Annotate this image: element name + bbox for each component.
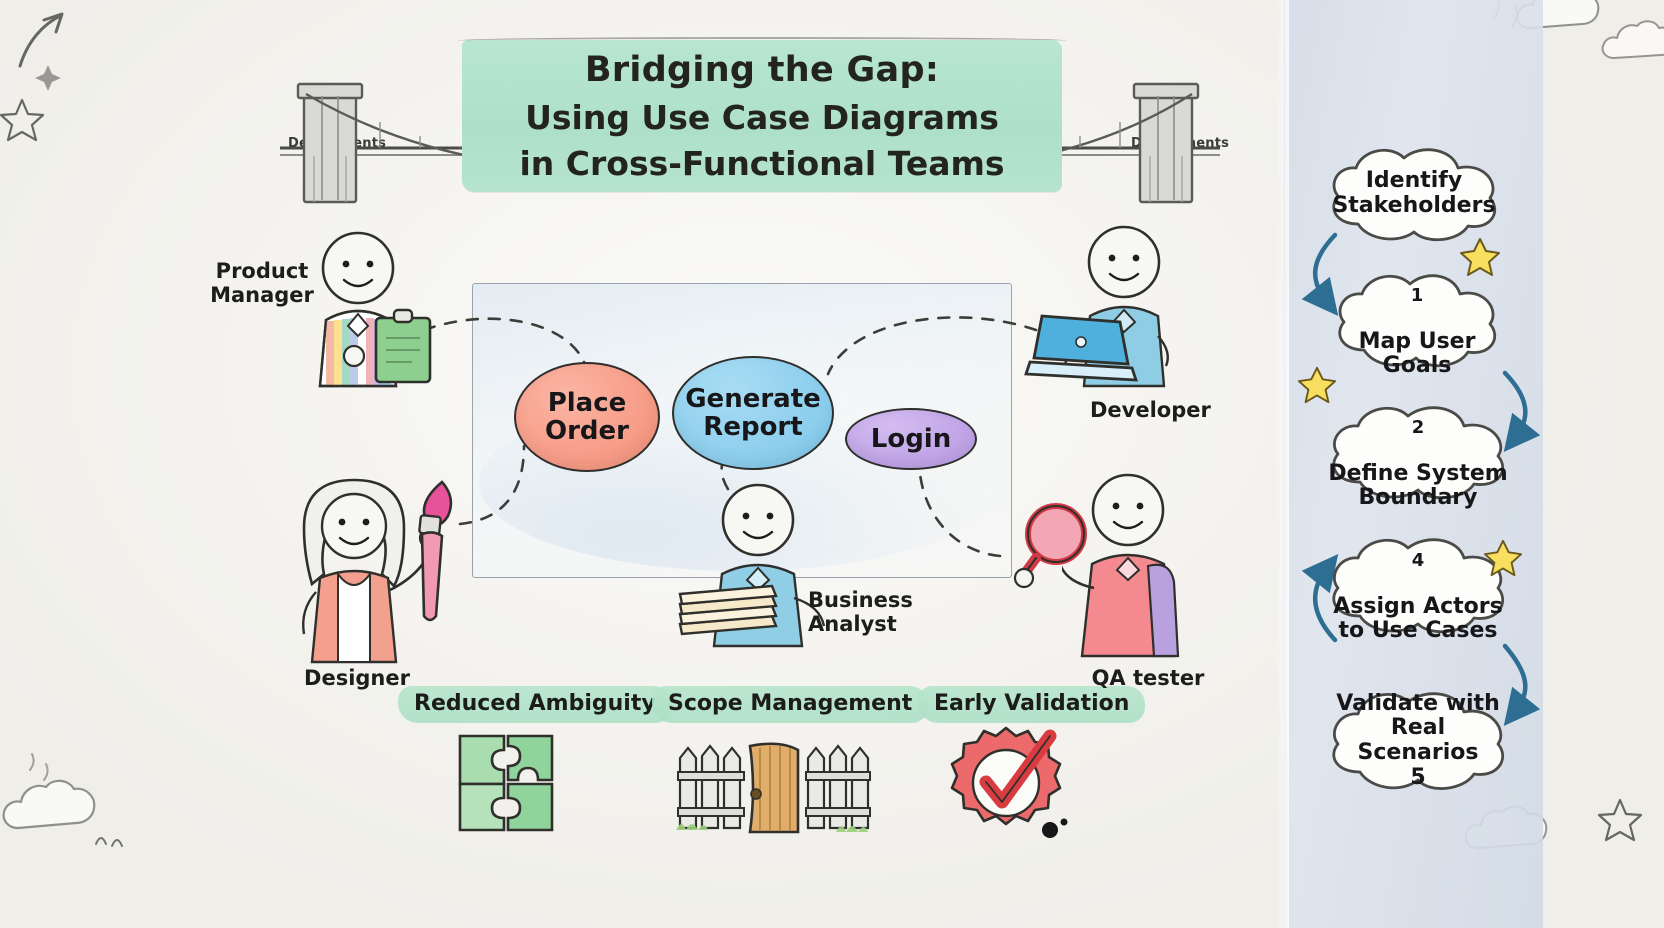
use-case-login[interactable]: Login [845,408,977,470]
star-decoration-3 [1483,538,1523,578]
title-line-2: Using Use Case Diagrams [525,95,999,141]
process-step-1-content: 1 Map User Goals [1349,262,1486,379]
clipboard-icon [372,308,434,386]
use-case-place-order[interactable]: Place Order [514,362,660,472]
puzzle-icon [452,728,568,838]
process-step-map-user-goals[interactable]: 1 Map User Goals [1326,266,1508,374]
process-step-3-number: 4 [1333,551,1502,571]
process-step-4-label: Validate with Real Scenarios 5 [1318,692,1518,791]
benefit-chip-reduced-ambiguity[interactable]: Reduced Ambiguity [398,686,672,723]
process-step-identify-stakeholders[interactable]: Identify Stakeholders [1318,142,1510,246]
check-seal-icon [946,720,1076,846]
process-step-2-label: Define System Boundary [1328,461,1507,510]
title-line-3: in Cross-Functional Teams [519,141,1004,187]
process-step-0-label: Identify Stakeholders [1322,169,1505,218]
star-decoration-1 [1459,236,1501,278]
benefit-chip-early-validation[interactable]: Early Validation [918,686,1145,723]
magnifier-icon [1010,498,1092,602]
process-step-2-number: 2 [1328,418,1507,438]
actor-label-designer: Designer [292,666,422,690]
title-banner: Bridging the Gap: Using Use Case Diagram… [462,40,1062,192]
process-step-1-label: Map User Goals [1359,329,1476,378]
benefit-chip-scope-management[interactable]: Scope Management [652,686,928,723]
actor-label-business-analyst: Business Analyst [808,588,930,637]
process-step-3-label: Assign Actors to Use Cases [1333,594,1502,643]
fence-gate-icon [676,736,872,840]
actor-label-qa-tester: QA tester [1080,666,1216,690]
title-line-1: Bridging the Gap: [585,45,939,95]
laptop-icon [1024,310,1142,392]
process-step-2-content: 2 Define System Boundary [1318,394,1517,511]
process-step-validate-real-scenarios[interactable]: Validate with Real Scenarios 5 [1318,684,1518,798]
actor-label-product-manager: Product Manager [208,259,316,308]
use-case-generate-report[interactable]: Generate Report [672,356,834,470]
document-stack-icon [672,578,782,638]
star-decoration-2 [1297,365,1337,405]
process-step-define-system-boundary[interactable]: 2 Define System Boundary [1318,398,1518,506]
infographic-canvas: Departments Departments Bridging the Gap… [0,0,1664,928]
paintbrush-icon [404,476,470,624]
process-step-1-number: 1 [1359,286,1476,306]
actor-label-developer: Developer [1090,398,1206,422]
